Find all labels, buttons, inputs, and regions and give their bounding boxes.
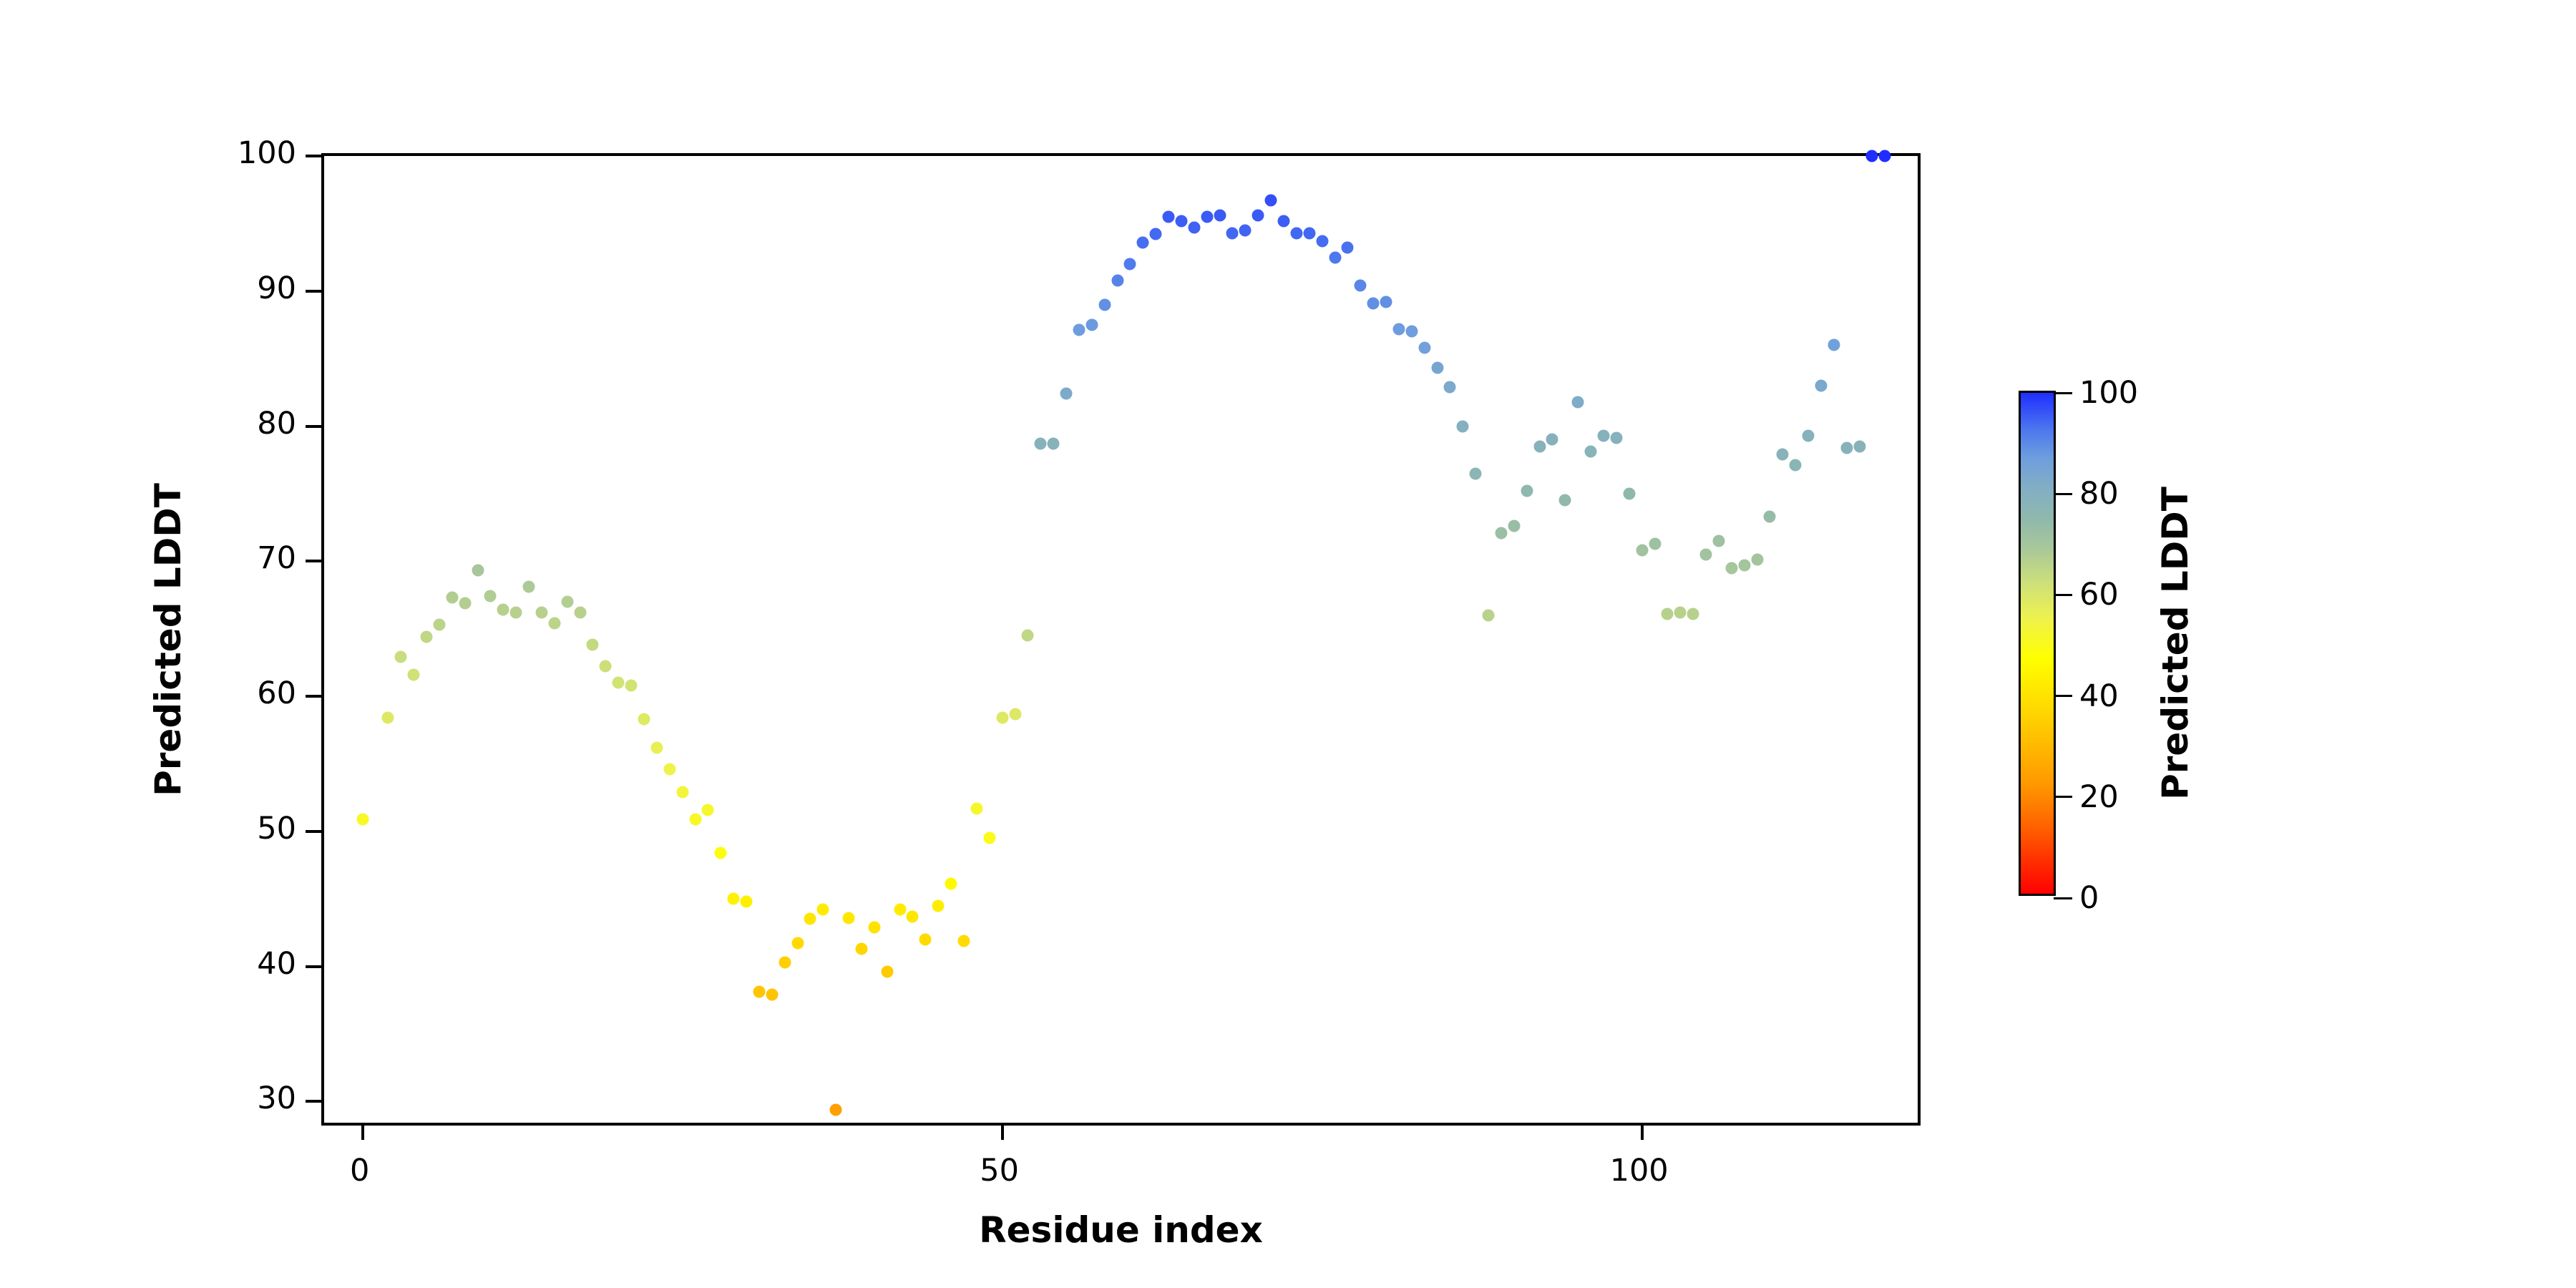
colorbar-tick-label: 100 <box>2079 375 2138 411</box>
scatter-point <box>868 921 880 933</box>
scatter-point <box>1879 150 1891 162</box>
colorbar-tick-label: 0 <box>2079 880 2099 916</box>
scatter-point <box>1418 342 1430 354</box>
scatter-point <box>548 618 560 630</box>
scatter-point <box>1662 608 1674 620</box>
colorbar-tick <box>2054 695 2072 697</box>
scatter-point <box>1751 554 1763 566</box>
scatter-point <box>1533 440 1546 452</box>
scatter-point <box>804 913 816 925</box>
scatter-point <box>1188 222 1200 234</box>
scatter-point <box>1649 537 1661 550</box>
scatter-point <box>574 606 586 618</box>
scatter-point <box>1022 630 1034 642</box>
scatter-point <box>1163 210 1175 223</box>
scatter-point <box>1405 326 1418 338</box>
scatter-point <box>638 713 650 726</box>
scatter-point <box>1329 251 1341 263</box>
x-axis-tick-label: 50 <box>980 1153 1019 1189</box>
y-axis-title: Predicted LDDT <box>147 153 190 1126</box>
scatter-point <box>1431 362 1443 374</box>
scatter-point <box>1380 296 1392 308</box>
x-axis-tick-label-layer: 050100 <box>321 1126 1921 1211</box>
scatter-point <box>1137 236 1149 248</box>
scatter-point <box>728 893 740 905</box>
y-axis-tick-label: 80 <box>257 406 296 441</box>
scatter-point <box>958 935 970 947</box>
scatter-point <box>1623 487 1635 499</box>
x-axis-title: Residue index <box>321 1209 1921 1251</box>
scatter-point <box>459 597 471 609</box>
scatter-point <box>497 604 509 616</box>
scatter-point <box>907 910 919 922</box>
scatter-point <box>779 956 791 968</box>
data-point-layer <box>324 156 1918 1123</box>
scatter-point <box>894 904 906 916</box>
scatter-point <box>1700 548 1712 560</box>
figure-canvas: 30405060708090100 050100 Residue index P… <box>0 0 2576 1288</box>
scatter-plot-axes <box>321 153 1921 1126</box>
scatter-point <box>472 565 484 577</box>
scatter-point <box>1457 420 1469 432</box>
colorbar-tick <box>2054 493 2072 495</box>
scatter-point <box>1085 318 1098 331</box>
scatter-point <box>1674 606 1687 618</box>
colorbar-title-text: Predicted LDDT <box>2155 487 2196 800</box>
scatter-point <box>561 595 573 608</box>
scatter-point <box>1278 215 1290 227</box>
scatter-point <box>382 712 394 724</box>
scatter-point <box>1226 227 1239 239</box>
scatter-point <box>1483 609 1495 621</box>
scatter-point <box>1546 434 1558 446</box>
x-axis-tick-label: 100 <box>1610 1153 1669 1189</box>
scatter-point <box>1367 297 1380 309</box>
scatter-point <box>600 660 612 673</box>
y-axis-tick-label: 100 <box>238 135 296 171</box>
colorbar-tick <box>2054 392 2072 394</box>
scatter-point <box>1853 440 1865 452</box>
scatter-point <box>702 804 714 816</box>
colorbar-tick <box>2054 796 2072 798</box>
colorbar-tick <box>2054 594 2072 596</box>
scatter-point <box>356 813 369 825</box>
scatter-point <box>1303 227 1315 239</box>
y-axis-tick-label: 90 <box>257 270 296 306</box>
y-axis-tick-label: 30 <box>257 1080 296 1116</box>
scatter-point <box>1687 608 1699 620</box>
scatter-point <box>919 933 932 945</box>
scatter-point <box>1290 227 1302 239</box>
scatter-point <box>996 712 1008 724</box>
scatter-point <box>1521 485 1533 497</box>
scatter-point <box>523 581 535 593</box>
scatter-point <box>741 895 753 907</box>
scatter-point <box>1598 429 1610 441</box>
scatter-point <box>587 639 599 651</box>
scatter-point <box>1444 381 1456 393</box>
scatter-point <box>970 802 982 814</box>
scatter-point <box>1239 224 1252 236</box>
scatter-point <box>1495 527 1507 539</box>
y-axis-title-text: Predicted LDDT <box>147 483 189 796</box>
scatter-point <box>650 741 663 753</box>
scatter-point <box>791 937 804 950</box>
scatter-point <box>1073 324 1085 336</box>
scatter-point <box>625 679 638 691</box>
scatter-point <box>1790 459 1802 472</box>
scatter-point <box>1559 494 1571 507</box>
y-axis-tick-label: 70 <box>257 540 296 576</box>
scatter-point <box>932 899 945 912</box>
scatter-point <box>535 606 547 618</box>
scatter-point <box>1802 429 1815 441</box>
scatter-point <box>830 1103 842 1116</box>
scatter-point <box>715 847 727 859</box>
scatter-point <box>1035 438 1047 450</box>
scatter-point <box>613 677 625 689</box>
scatter-point <box>1111 274 1123 286</box>
colorbar-tick-label: 40 <box>2079 678 2119 714</box>
scatter-point <box>1866 150 1878 162</box>
scatter-point <box>983 832 995 844</box>
scatter-point <box>408 668 420 680</box>
scatter-point <box>753 986 765 998</box>
scatter-point <box>676 786 688 799</box>
scatter-point <box>689 813 701 825</box>
scatter-point <box>843 912 855 924</box>
y-axis-tick-label: 50 <box>257 811 296 847</box>
scatter-point <box>433 618 445 630</box>
scatter-point <box>1470 467 1482 479</box>
x-axis-tick-label: 0 <box>350 1153 369 1189</box>
colorbar-title: Predicted LDDT <box>2154 391 2197 896</box>
scatter-point <box>1214 210 1226 222</box>
scatter-point <box>446 592 458 604</box>
scatter-point <box>1355 280 1367 292</box>
scatter-point <box>1265 195 1277 207</box>
scatter-point <box>1572 396 1584 408</box>
scatter-point <box>1828 339 1840 351</box>
colorbar-tick <box>2054 897 2072 899</box>
scatter-point <box>1150 228 1162 240</box>
scatter-point <box>1610 432 1622 444</box>
colorbar-tick-label: 80 <box>2079 476 2119 512</box>
scatter-point <box>1712 535 1724 547</box>
scatter-point <box>855 942 867 955</box>
scatter-point <box>1009 708 1021 720</box>
scatter-point <box>663 763 675 775</box>
scatter-point <box>1636 545 1648 557</box>
scatter-point <box>1725 562 1737 574</box>
scatter-point <box>1815 379 1827 391</box>
scatter-point <box>421 630 433 643</box>
scatter-point <box>766 989 778 1001</box>
scatter-point <box>510 606 522 618</box>
y-axis-tick-label: 40 <box>257 946 296 982</box>
scatter-point <box>1777 449 1789 461</box>
scatter-point <box>484 590 497 602</box>
scatter-point <box>1098 298 1111 311</box>
scatter-point <box>945 878 957 890</box>
scatter-point <box>1048 438 1060 450</box>
scatter-point <box>1392 323 1405 335</box>
scatter-point <box>395 651 407 663</box>
scatter-point <box>1252 210 1264 222</box>
scatter-point <box>1316 235 1328 247</box>
scatter-point <box>817 904 829 916</box>
scatter-point <box>1585 446 1597 458</box>
scatter-point <box>1175 215 1187 227</box>
scatter-point <box>1508 520 1520 532</box>
scatter-point <box>1764 510 1776 522</box>
y-axis-tick-label: 60 <box>257 675 296 711</box>
colorbar: 020406080100 <box>2019 391 2056 896</box>
colorbar-tick-label: 60 <box>2079 577 2119 613</box>
scatter-point <box>1060 388 1073 400</box>
scatter-point <box>1342 242 1354 254</box>
colorbar-tick-label: 20 <box>2079 779 2119 815</box>
scatter-point <box>1201 210 1213 223</box>
scatter-point <box>1124 258 1136 270</box>
scatter-point <box>881 966 893 978</box>
scatter-point <box>1738 559 1750 571</box>
scatter-point <box>1840 441 1853 454</box>
